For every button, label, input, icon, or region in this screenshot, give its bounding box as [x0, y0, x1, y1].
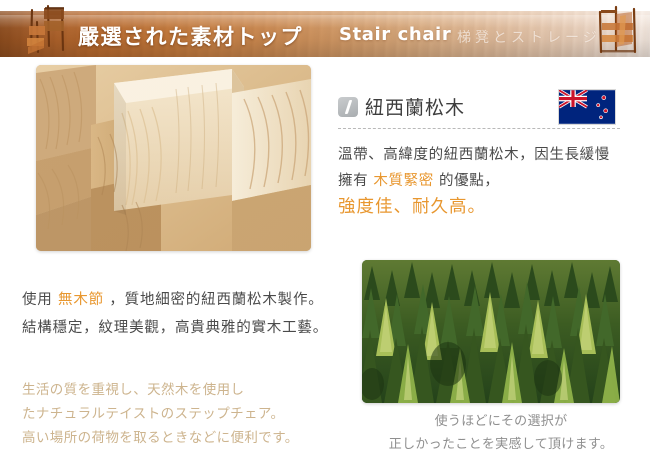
number-badge-icon: [338, 97, 358, 117]
left-line-1-suffix: ，質地細密的紐西蘭松木製作。: [109, 292, 323, 308]
info-title: 紐西蘭松木: [365, 93, 465, 120]
forest-caption-line-1: 使うほどにその選択が: [362, 410, 640, 433]
divider: [338, 128, 620, 129]
left-description: 使用 無木節 ，質地細密的紐西蘭松木製作。 結構穩定，紋理美觀，高貴典雅的實木工…: [22, 286, 342, 342]
forest-caption-line-2: 正しかったことを実感して頂けます。: [362, 433, 640, 456]
banner-subtitle-jp: 梯凳とストレージ: [457, 27, 601, 47]
left-jp-line-1: 生活の質を重視し、天然木を使用し: [22, 378, 352, 402]
left-line-1: 使用 無木節 ，質地細密的紐西蘭松木製作。: [22, 286, 342, 314]
left-line-2: 結構穩定，紋理美觀，高貴典雅的實木工藝。: [22, 314, 342, 342]
left-description-jp: 生活の質を重視し、天然木を使用し たナチュラルテイストのステップチェア。 高い場…: [22, 378, 352, 450]
wood-closeup-image: [36, 65, 311, 251]
banner-subtitle-en: Stair chair: [339, 24, 451, 45]
forest-image: [362, 260, 620, 403]
step-stool-icon: [590, 0, 646, 58]
info-line-3: 強度佳、耐久高。: [338, 194, 638, 220]
forest-caption: 使うほどにその選択が 正しかったことを実感して頂けます。: [362, 410, 640, 456]
product-feature-page: 嚴選された素材トップ Stair chair 梯凳とストレージ: [0, 0, 650, 470]
info-line-1: 溫帶、高緯度的紐西蘭松木，因生長緩慢: [338, 142, 638, 168]
left-highlight: 無木節: [58, 292, 104, 308]
page-title: 嚴選された素材トップ: [78, 21, 303, 51]
info-heading-row: 紐西蘭松木: [338, 93, 465, 120]
header-banner: 嚴選された素材トップ Stair chair 梯凳とストレージ: [0, 11, 650, 57]
step-stool-icon: [18, 0, 74, 58]
info-highlight: 木質緊密: [373, 173, 433, 189]
info-line-2-suffix: 的優點，: [439, 173, 499, 189]
left-jp-line-3: 高い場所の荷物を取るときなどに便利です。: [22, 426, 352, 450]
info-line-2: 擁有 木質緊密 的優點，: [338, 168, 638, 194]
new-zealand-flag-icon: [558, 89, 616, 125]
left-line-1-prefix: 使用: [22, 292, 53, 308]
left-jp-line-2: たナチュラルテイストのステップチェア。: [22, 402, 352, 426]
info-description: 溫帶、高緯度的紐西蘭松木，因生長緩慢 擁有 木質緊密 的優點， 強度佳、耐久高。: [338, 142, 638, 220]
info-line-2-prefix: 擁有: [338, 173, 368, 189]
